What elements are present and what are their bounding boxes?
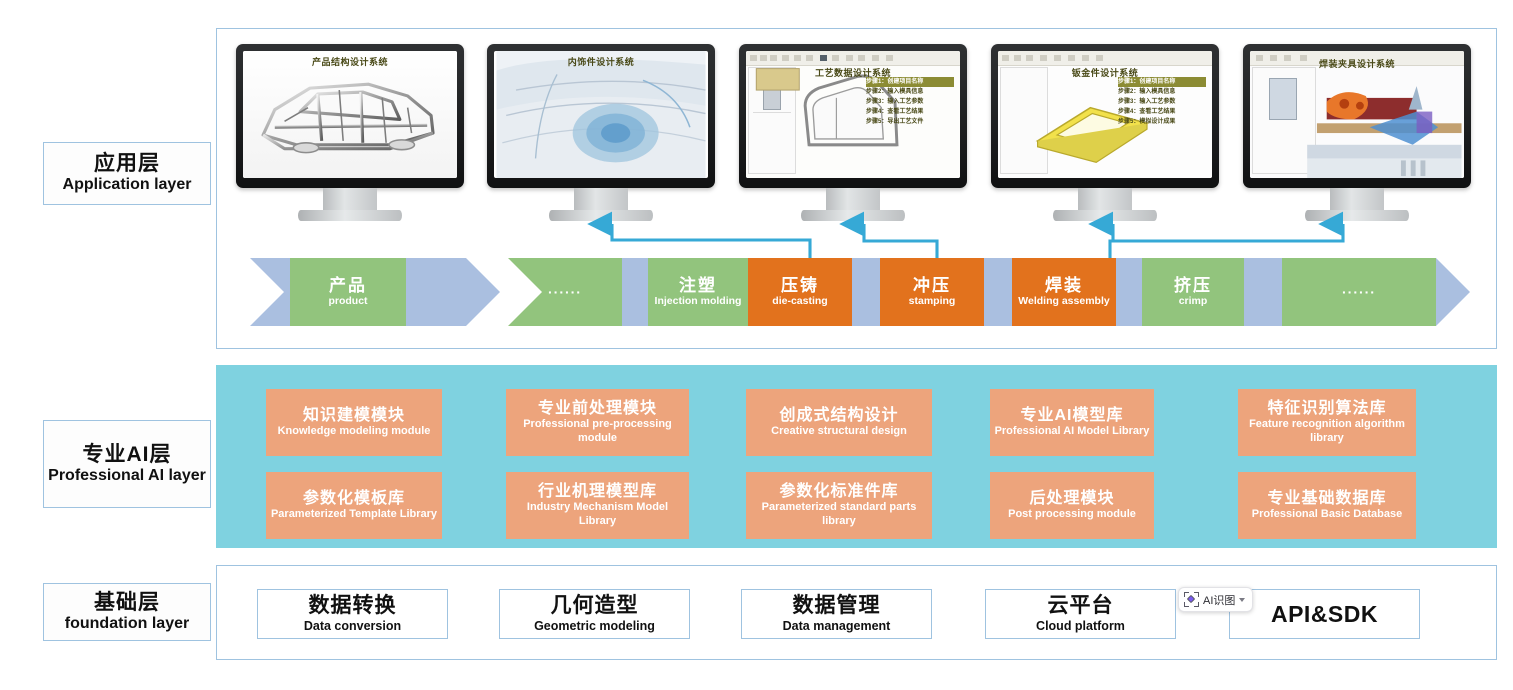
welding-fixture-assembly — [1250, 51, 1464, 178]
monitor-4-step-list: 步骤1：创建项目名称 步骤2：输入模具信息 步骤3：输入工艺参数 步骤4：查看工… — [1118, 77, 1206, 127]
monitor-1-neck — [323, 188, 377, 210]
foundation-box-data-conversion-en: Data conversion — [304, 619, 401, 634]
car-body-frame-render — [243, 51, 457, 178]
ai-module-professional-pre-processing[interactable]: 专业前处理模块 Professional pre-processing modu… — [506, 389, 689, 456]
ai-module-knowledge-modeling-en: Knowledge modeling module — [278, 425, 431, 439]
ai-module-professional-basic-database[interactable]: 专业基础数据库 Professional Basic Database — [1238, 472, 1416, 539]
foundation-box-cloud-platform-cn: 云平台 — [1048, 594, 1114, 618]
process-group-2: ······ 注塑 Injection molding 压铸 die-casti… — [508, 258, 1470, 326]
monitor-2-base — [549, 210, 653, 221]
monitor-5-bezel: 焊装夹具设计系统 — [1243, 44, 1471, 188]
monitor-3-step-5: 步骤5：导出工艺文件 — [866, 117, 954, 127]
layer-label-application: 应用层 Application layer — [43, 142, 211, 205]
monitor-1-screen-title: 产品结构设计系统 — [243, 55, 457, 68]
process-segment-product[interactable]: 产品 product — [290, 258, 406, 326]
ai-module-parameterized-template-library-cn: 参数化模板库 — [303, 489, 405, 508]
monitor-4-bezel: 步骤1：创建项目名称 步骤2：输入模具信息 步骤3：输入工艺参数 步骤4：查看工… — [991, 44, 1219, 188]
ai-module-knowledge-modeling[interactable]: 知识建模模块 Knowledge modeling module — [266, 389, 442, 456]
foundation-box-data-management[interactable]: 数据管理 Data management — [741, 589, 932, 639]
foundation-box-geometric-modeling-cn: 几何造型 — [551, 594, 639, 618]
monitor-4-step-3: 步骤3：输入工艺参数 — [1118, 97, 1206, 107]
process-segment-blue-7 — [1244, 258, 1282, 326]
ai-module-industry-mechanism-model-library-cn: 行业机理模型库 — [538, 482, 657, 501]
process-segment-ellipsis-start-dots: ······ — [548, 284, 582, 300]
monitor-1[interactable]: 产品结构设计系统 — [236, 44, 464, 221]
ai-image-recognition-widget[interactable]: AI识图 — [1178, 587, 1253, 612]
monitor-5-base — [1305, 210, 1409, 221]
ai-module-professional-pre-processing-cn: 专业前处理模块 — [538, 399, 657, 418]
monitor-2[interactable]: 内饰件设计系统 — [487, 44, 715, 221]
ai-module-professional-ai-model-library[interactable]: 专业AI模型库 Professional AI Model Library — [990, 389, 1154, 456]
monitor-3-step-4: 步骤4：查看工艺结果 — [866, 107, 954, 117]
diagram-canvas: 应用层 Application layer 专业AI层 Professional… — [0, 0, 1513, 690]
monitor-3-bezel: 步骤1：创建项目名称 步骤2：输入模具信息 步骤3：输入工艺参数 步骤4：查看工… — [739, 44, 967, 188]
monitor-2-neck — [574, 188, 628, 210]
process-segment-blue-6 — [1116, 258, 1142, 326]
process-segment-crimp-cn: 挤压 — [1174, 277, 1212, 295]
monitor-3-step-2: 步骤2：输入模具信息 — [866, 87, 954, 97]
foundation-box-api-sdk-label: API&SDK — [1271, 601, 1378, 628]
process-segment-product-en: product — [328, 295, 367, 307]
process-segment-stamping-cn: 冲压 — [913, 277, 951, 295]
monitor-4-step-2: 步骤2：输入模具信息 — [1118, 87, 1206, 97]
process-segment-product-cn: 产品 — [329, 277, 367, 295]
layer-label-professional-ai: 专业AI层 Professional AI layer — [43, 420, 211, 508]
process-segment-stamping-en: stamping — [909, 295, 956, 307]
layer-label-application-en: Application layer — [63, 176, 192, 194]
process-segment-blue-2 — [406, 258, 466, 326]
process-group-2-head — [1436, 258, 1470, 326]
ai-module-creative-structural-design-cn: 创成式结构设计 — [779, 406, 898, 425]
foundation-box-data-conversion[interactable]: 数据转换 Data conversion — [257, 589, 448, 639]
ai-module-creative-structural-design-en: Creative structural design — [771, 425, 907, 439]
ai-module-feature-recognition-algorithm-library[interactable]: 特征识别算法库 Feature recognition algorithm li… — [1238, 389, 1416, 456]
monitor-4-screen: 步骤1：创建项目名称 步骤2：输入模具信息 步骤3：输入工艺参数 步骤4：查看工… — [998, 51, 1212, 178]
monitor-4-base — [1053, 210, 1157, 221]
ai-module-professional-ai-model-library-en: Professional AI Model Library — [995, 425, 1150, 439]
ai-module-parameterized-standard-parts-library-en: Parameterized standard parts library — [750, 501, 928, 529]
ai-module-industry-mechanism-model-library-en: Industry Mechanism Model Library — [510, 501, 685, 529]
monitor-3[interactable]: 步骤1：创建项目名称 步骤2：输入模具信息 步骤3：输入工艺参数 步骤4：查看工… — [739, 44, 967, 221]
monitor-4-screen-title: 钣金件设计系统 — [998, 66, 1212, 79]
monitor-1-base — [298, 210, 402, 221]
foundation-box-data-conversion-cn: 数据转换 — [309, 594, 397, 618]
layer-label-professional-ai-cn: 专业AI层 — [83, 443, 172, 467]
process-segment-injection-molding[interactable]: 注塑 Injection molding — [648, 258, 748, 326]
monitor-1-bezel: 产品结构设计系统 — [236, 44, 464, 188]
ai-module-professional-pre-processing-en: Professional pre-processing module — [510, 418, 685, 446]
process-segment-crimp-en: crimp — [1179, 295, 1208, 307]
process-segment-injection-molding-en: Injection molding — [655, 295, 742, 307]
monitor-2-screen-title: 内饰件设计系统 — [494, 55, 708, 68]
process-segment-die-casting-cn: 压铸 — [781, 277, 819, 295]
ai-module-creative-structural-design[interactable]: 创成式结构设计 Creative structural design — [746, 389, 932, 456]
3d-interior-surface-model — [494, 51, 708, 178]
ai-image-recognition-label: AI识图 — [1203, 592, 1235, 608]
ai-module-post-processing-en: Post processing module — [1008, 508, 1136, 522]
process-segment-welding-assembly-en: Welding assembly — [1018, 295, 1109, 307]
process-segment-stamping[interactable]: 冲压 stamping — [880, 258, 984, 326]
monitor-5-screen: 焊装夹具设计系统 — [1250, 51, 1464, 178]
ai-module-professional-ai-model-library-cn: 专业AI模型库 — [1020, 406, 1123, 425]
ai-module-feature-recognition-algorithm-library-en: Feature recognition algorithm library — [1242, 418, 1412, 446]
foundation-box-data-management-cn: 数据管理 — [793, 594, 881, 618]
process-segment-die-casting-en: die-casting — [772, 295, 827, 307]
ai-module-professional-basic-database-en: Professional Basic Database — [1252, 508, 1402, 522]
monitor-2-bezel: 内饰件设计系统 — [487, 44, 715, 188]
process-segment-blue-4 — [852, 258, 880, 326]
monitor-5-neck — [1330, 188, 1384, 210]
foundation-box-geometric-modeling[interactable]: 几何造型 Geometric modeling — [499, 589, 690, 639]
ai-scan-icon — [1184, 592, 1199, 607]
process-segment-blue-3 — [622, 258, 648, 326]
ai-module-parameterized-template-library[interactable]: 参数化模板库 Parameterized Template Library — [266, 472, 442, 539]
process-segment-welding-assembly[interactable]: 焊装 Welding assembly — [1012, 258, 1116, 326]
ai-module-industry-mechanism-model-library[interactable]: 行业机理模型库 Industry Mechanism Model Library — [506, 472, 689, 539]
ai-module-knowledge-modeling-cn: 知识建模模块 — [303, 406, 405, 425]
ai-module-post-processing[interactable]: 后处理模块 Post processing module — [990, 472, 1154, 539]
process-segment-ellipsis-end: ······ — [1282, 258, 1436, 326]
process-segment-injection-molding-cn: 注塑 — [679, 277, 717, 295]
process-group-1: 产品 product — [250, 258, 500, 326]
monitor-1-screen: 产品结构设计系统 — [243, 51, 457, 178]
layer-label-professional-ai-en: Professional AI layer — [48, 467, 206, 485]
monitor-4[interactable]: 步骤1：创建项目名称 步骤2：输入模具信息 步骤3：输入工艺参数 步骤4：查看工… — [991, 44, 1219, 221]
monitor-4-neck — [1078, 188, 1132, 210]
process-segment-welding-assembly-cn: 焊装 — [1045, 277, 1083, 295]
monitor-2-screen: 内饰件设计系统 — [494, 51, 708, 178]
monitor-3-base — [801, 210, 905, 221]
foundation-box-cloud-platform[interactable]: 云平台 Cloud platform — [985, 589, 1176, 639]
ai-module-parameterized-standard-parts-library[interactable]: 参数化标准件库 Parameterized standard parts lib… — [746, 472, 932, 539]
layer-label-foundation: 基础层 foundation layer — [43, 583, 211, 641]
monitor-3-screen: 步骤1：创建项目名称 步骤2：输入模具信息 步骤3：输入工艺参数 步骤4：查看工… — [746, 51, 960, 178]
monitor-3-step-list: 步骤1：创建项目名称 步骤2：输入模具信息 步骤3：输入工艺参数 步骤4：查看工… — [866, 77, 954, 127]
monitor-5-screen-title: 焊装夹具设计系统 — [1250, 57, 1464, 70]
layer-label-foundation-en: foundation layer — [65, 615, 189, 633]
monitor-5[interactable]: 焊装夹具设计系统 — [1243, 44, 1471, 221]
monitor-4-step-5: 步骤5：模拟设计成果 — [1118, 117, 1206, 127]
process-segment-die-casting[interactable]: 压铸 die-casting — [748, 258, 852, 326]
foundation-box-api-sdk[interactable]: API&SDK — [1229, 589, 1420, 639]
layer-label-foundation-cn: 基础层 — [94, 591, 160, 615]
process-group-1-head — [466, 258, 500, 326]
ai-module-post-processing-cn: 后处理模块 — [1029, 489, 1114, 508]
foundation-box-geometric-modeling-en: Geometric modeling — [534, 619, 655, 634]
ai-module-parameterized-standard-parts-library-cn: 参数化标准件库 — [779, 482, 898, 501]
foundation-box-data-management-en: Data management — [783, 619, 891, 634]
process-segment-ellipsis-end-dots: ······ — [1342, 284, 1376, 300]
ai-module-feature-recognition-algorithm-library-cn: 特征识别算法库 — [1267, 399, 1386, 418]
ai-module-parameterized-template-library-en: Parameterized Template Library — [271, 508, 437, 522]
foundation-box-cloud-platform-en: Cloud platform — [1036, 619, 1125, 634]
monitor-3-step-3: 步骤3：输入工艺参数 — [866, 97, 954, 107]
process-segment-blue-5 — [984, 258, 1012, 326]
process-chevron-band: 产品 product ······ 注塑 Injection molding — [250, 258, 1470, 326]
chevron-down-icon[interactable] — [1239, 598, 1245, 602]
monitor-3-screen-title: 工艺数据设计系统 — [746, 66, 960, 79]
ai-module-professional-basic-database-cn: 专业基础数据库 — [1267, 489, 1386, 508]
process-segment-crimp[interactable]: 挤压 crimp — [1142, 258, 1244, 326]
layer-label-application-cn: 应用层 — [94, 152, 160, 176]
monitor-4-step-4: 步骤4：查看工艺结果 — [1118, 107, 1206, 117]
monitor-3-neck — [826, 188, 880, 210]
